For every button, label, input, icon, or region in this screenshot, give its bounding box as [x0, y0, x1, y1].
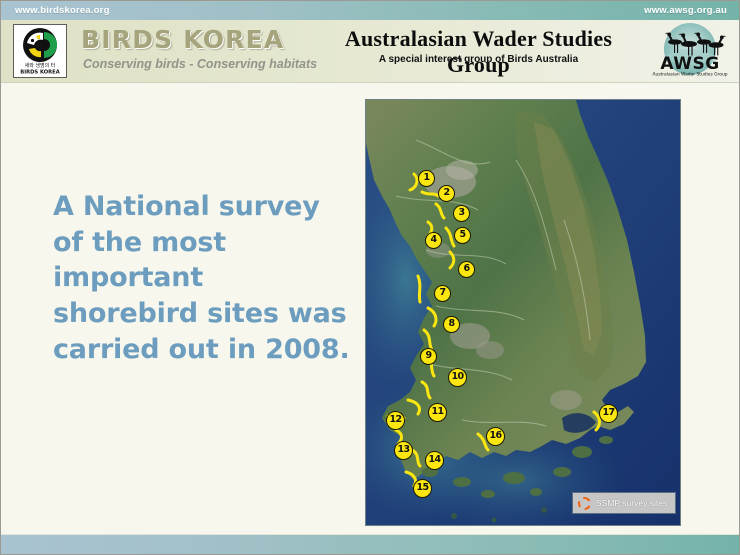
survey-site-marker-4[interactable]: 4: [425, 232, 442, 249]
top-url-bar: www.birdskorea.org www.awsg.org.au: [1, 1, 740, 20]
birds-korea-tagline: Conserving birds - Conserving habitats: [83, 57, 317, 71]
awsg-logo-text: AWSG: [660, 54, 719, 74]
header-band: 새와 생명의 터 BIRDS KOREA BIRDS KOREA Conserv…: [1, 20, 740, 83]
survey-site-marker-11[interactable]: 11: [428, 403, 447, 422]
birdskorea-url[interactable]: www.birdskorea.org: [15, 5, 110, 16]
awsg-subtitle: A special interest group of Birds Austra…: [311, 54, 646, 65]
survey-site-marker-8[interactable]: 8: [443, 316, 460, 333]
map-legend: SSMP survey sites: [572, 492, 676, 514]
awsg-logo-subtext: Australasian Wader Studies Group: [652, 72, 727, 78]
survey-site-marker-5[interactable]: 5: [454, 227, 471, 244]
map-legend-label: SSMP survey sites: [596, 498, 667, 508]
satellite-imagery: [366, 100, 681, 526]
survey-site-marker-10[interactable]: 10: [448, 368, 467, 387]
survey-site-marker-13[interactable]: 13: [394, 441, 413, 460]
presentation-slide: www.birdskorea.org www.awsg.org.au 새와 생명…: [0, 0, 740, 555]
survey-site-marker-15[interactable]: 15: [413, 479, 432, 498]
survey-site-marker-12[interactable]: 12: [386, 411, 405, 430]
survey-site-marker-7[interactable]: 7: [434, 285, 451, 302]
dashed-circle-icon: [578, 497, 591, 510]
svg-text:BIRDS KOREA: BIRDS KOREA: [20, 70, 59, 76]
korea-survey-map[interactable]: SSMP survey sites 1234567891011121314151…: [365, 99, 681, 526]
survey-site-marker-16[interactable]: 16: [486, 427, 505, 446]
survey-site-marker-17[interactable]: 17: [599, 404, 618, 423]
survey-site-marker-3[interactable]: 3: [453, 205, 470, 222]
svg-text:새와 생명의 터: 새와 생명의 터: [25, 62, 56, 69]
survey-site-marker-14[interactable]: 14: [425, 451, 444, 470]
survey-site-marker-1[interactable]: 1: [418, 170, 435, 187]
survey-site-marker-9[interactable]: 9: [420, 348, 437, 365]
birds-korea-wordmark: BIRDS KOREA: [81, 25, 284, 54]
awsg-title: Australasian Wader Studies Group: [311, 26, 646, 78]
awsg-logo: AWSG Australasian Wader Studies Group: [647, 22, 733, 80]
survey-site-marker-6[interactable]: 6: [458, 261, 475, 278]
survey-site-marker-2[interactable]: 2: [438, 185, 455, 202]
bottom-accent-bar: [1, 534, 740, 554]
slide-headline: A National survey of the most important …: [53, 189, 353, 367]
birds-korea-logo: 새와 생명의 터 BIRDS KOREA: [13, 24, 67, 78]
awsg-url[interactable]: www.awsg.org.au: [644, 5, 727, 16]
